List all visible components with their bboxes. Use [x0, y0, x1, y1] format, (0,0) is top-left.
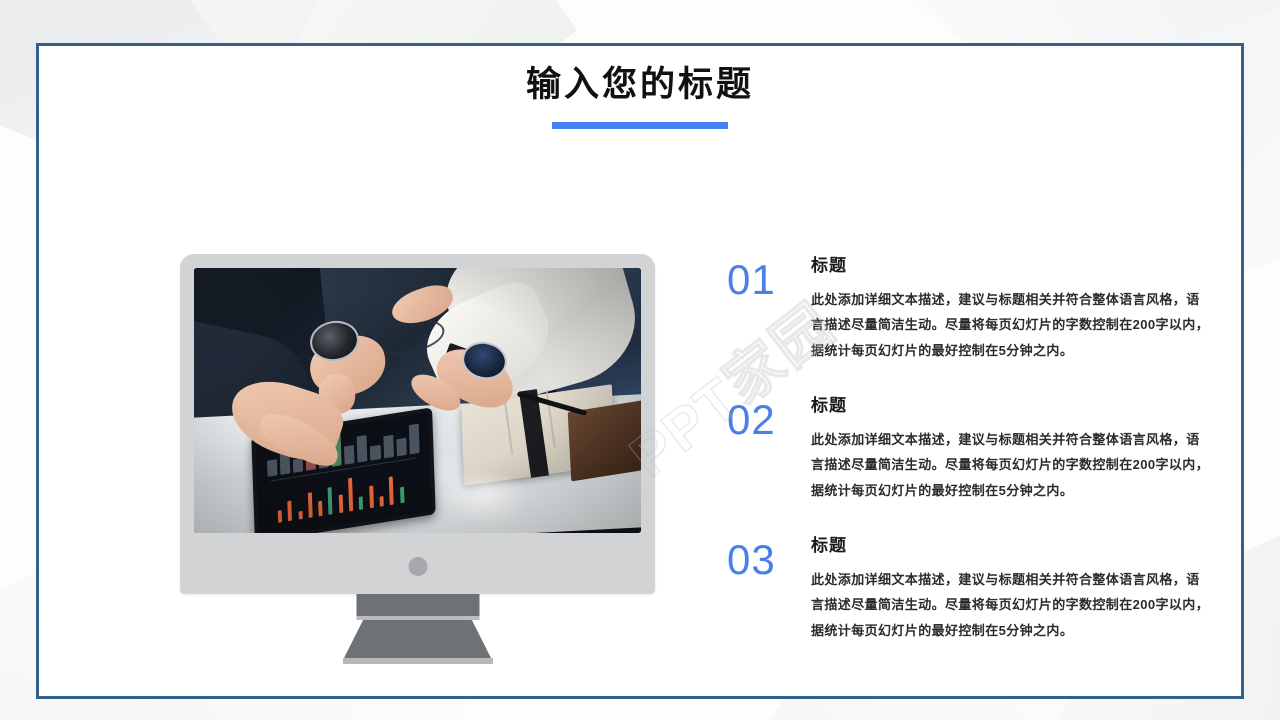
block-description: 此处添加详细文本描述，建议与标题相关并符合整体语言风格，语言描述尽量简洁生动。尽… [811, 427, 1211, 503]
block-body: 标题 此处添加详细文本描述，建议与标题相关并符合整体语言风格，语言描述尽量简洁生… [811, 531, 1227, 643]
block-heading: 标题 [811, 391, 1227, 416]
monitor-illustration [180, 254, 655, 594]
block-body: 标题 此处添加详细文本描述，建议与标题相关并符合整体语言风格，语言描述尽量简洁生… [811, 251, 1227, 363]
page-title: 输入您的标题 [39, 64, 1241, 106]
monitor-logo-icon [408, 557, 427, 576]
content-list: 01 标题 此处添加详细文本描述，建议与标题相关并符合整体语言风格，语言描述尽量… [727, 251, 1227, 643]
block-number: 03 [727, 539, 776, 581]
block-description: 此处添加详细文本描述，建议与标题相关并符合整体语言风格，语言描述尽量简洁生动。尽… [811, 287, 1211, 363]
block-body: 标题 此处添加详细文本描述，建议与标题相关并符合整体语言风格，语言描述尽量简洁生… [811, 391, 1227, 503]
content-block-01: 01 标题 此处添加详细文本描述，建议与标题相关并符合整体语言风格，语言描述尽量… [727, 251, 1227, 363]
title-area: 输入您的标题 [39, 64, 1241, 129]
block-number: 02 [727, 399, 776, 441]
block-description: 此处添加详细文本描述，建议与标题相关并符合整体语言风格，语言描述尽量简洁生动。尽… [811, 567, 1211, 643]
content-block-02: 02 标题 此处添加详细文本描述，建议与标题相关并符合整体语言风格，语言描述尽量… [727, 391, 1227, 503]
photo-vignette [194, 268, 641, 533]
monitor-screen [194, 268, 641, 533]
content-block-03: 03 标题 此处添加详细文本描述，建议与标题相关并符合整体语言风格，语言描述尽量… [727, 531, 1227, 643]
monitor-stand-neck [356, 594, 479, 616]
block-heading: 标题 [811, 531, 1227, 556]
monitor-chin [194, 533, 641, 594]
monitor-frame [180, 254, 655, 594]
monitor-stand-foot [343, 658, 493, 664]
title-underline-bar [552, 122, 728, 129]
monitor-stand-divider [356, 616, 479, 620]
block-heading: 标题 [811, 251, 1227, 276]
slide-frame: 输入您的标题 [36, 43, 1244, 699]
block-number: 01 [727, 259, 776, 301]
screen-photo [194, 268, 641, 533]
monitor-stand-base [344, 620, 491, 658]
